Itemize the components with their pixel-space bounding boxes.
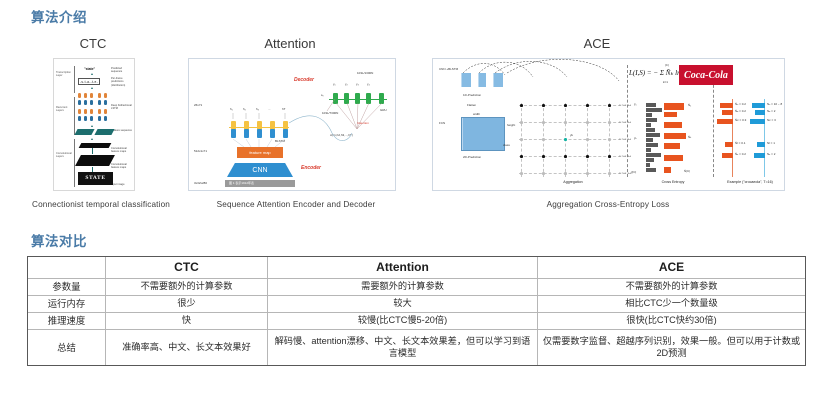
figure-caption-ace: Aggregation Cross-Entropy Loss: [508, 200, 708, 209]
ace-formula-sum-bottom: k=1: [663, 80, 668, 84]
cell-params-ace: 不需要额外的计算参数: [538, 279, 806, 296]
ace-example-right-1: Nₐ = 2: [767, 109, 775, 113]
cell-params-ctc: 不需要额外的计算参数: [106, 279, 268, 296]
ace-nbar-1: N̄₁: [688, 103, 691, 107]
ace-coca-cola-logo: Coca-Cola: [679, 65, 733, 85]
att-y-label-4: y₄: [367, 82, 370, 86]
att-h-label-2: h₂: [243, 107, 246, 111]
att-attention-label: Attention: [357, 121, 369, 125]
table-row: 运行内存 很少 较大 相比CTC少一个数量级: [28, 296, 806, 313]
ace-nbar-k: N̄ₖ: [688, 135, 691, 139]
ace-example-left-2: N̄c = 0.3: [735, 118, 746, 122]
ace-example-right-0: Nₒ = 10 − 8: [767, 102, 782, 106]
ace-example-left-0: N̄ₒ = 0.2: [735, 102, 746, 106]
ctc-label-per-frame: Per-frame predictions (distribution): [111, 77, 133, 87]
ace-label-1d-prediction: 1D-Prediction: [463, 93, 481, 97]
ace-divider-1: [627, 65, 628, 177]
row-label-summary: 总结: [28, 330, 106, 366]
ace-label-2d-prediction: 2D-Prediction: [463, 155, 481, 159]
cell-speed-attention: 较慢(比CTC慢5-20倍): [268, 313, 538, 330]
ace-label-yk-cell: yk: [570, 133, 573, 137]
ace-nbar-last: N̄|C|: [684, 169, 690, 173]
ace-1d-stack-1: [461, 73, 471, 87]
att-input-image-text: 图 1 表示1912年表: [229, 181, 254, 185]
ctc-label-recurrent: Recurrent Layers: [56, 106, 73, 112]
ctc-label-transcription: Transcription Layer: [56, 71, 73, 77]
ctc-conv-map-2: [75, 155, 115, 166]
ace-label-width: width: [473, 112, 480, 116]
table-header-attention: Attention: [268, 257, 538, 279]
ctc-feature-slab-1: [74, 129, 94, 135]
cell-params-attention: 需要额外的计算参数: [268, 279, 538, 296]
figure-title-ctc: CTC: [33, 36, 153, 51]
figure-title-ace: ACE: [537, 36, 657, 51]
ctc-input-image: STATE: [78, 172, 113, 185]
att-dim-top: 26x71: [194, 103, 202, 107]
att-cnn-block: CNN: [227, 163, 293, 177]
figure-panel-attention: 26x71 512x1x71 3x32x280 图 1 表示1912年表 CNN…: [188, 58, 396, 191]
slide-root: 算法介绍 CTC Attention ACE Transcription Lay…: [0, 0, 832, 404]
ctc-feature-slab-2: [94, 129, 114, 135]
ace-label-class: class: [503, 143, 510, 147]
ace-example-left-3: N̄l = 0.1: [735, 141, 745, 145]
cell-summary-ctc: 准确率高、中文、长文本效果好: [106, 330, 268, 366]
ace-label-height: height: [507, 123, 515, 127]
section-heading-compare: 算法对比: [31, 230, 87, 250]
ctc-arrow-1: [91, 73, 93, 75]
ace-ybar-1: ȳ₁: [634, 102, 637, 106]
att-h-label-3: h₃: [256, 107, 259, 111]
ctc-label-convolutional: Convolutional Layers: [56, 152, 73, 158]
row-label-params: 参数量: [28, 279, 106, 296]
att-connections-svg: [189, 59, 396, 191]
att-decoder-label: Decoder: [294, 77, 314, 83]
att-s0-label: s₀: [321, 93, 324, 97]
figure-panel-ace: CNN +BLSTM FCN 1D-Prediction Flatten 2D-…: [432, 58, 785, 191]
table-head: CTC Attention ACE: [28, 257, 806, 279]
figure-caption-ctc: Connectionist temporal classification: [8, 200, 194, 209]
ace-example-left-4: N̄ₑ = 0.2: [735, 152, 746, 156]
att-h-label-T: hT: [282, 107, 286, 111]
att-gru-dim-side: 103L/7300N: [322, 111, 338, 115]
table-row: 参数量 不需要额外的计算参数 需要额外的计算参数 不需要额外的计算参数: [28, 279, 806, 296]
ctc-arrow-4: [91, 138, 93, 140]
att-dim-mid: 512x1x71: [194, 149, 207, 153]
att-h-label-dots: ...: [268, 107, 271, 111]
row-label-speed: 推理速度: [28, 313, 106, 330]
ace-1d-stack-2: [478, 73, 486, 87]
ctc-conv-map-1: [79, 143, 112, 148]
ctc-label-deep-lstm: Deep bidirectional LSTM: [111, 104, 133, 111]
cell-memory-attention: 较大: [268, 296, 538, 313]
cell-summary-attention: 解码慢、attention漂移、中文、长文本效果差，但可以学习到语言模型: [268, 330, 538, 366]
att-encoder-label: Encoder: [301, 165, 321, 171]
cell-summary-ace: 仅需要数字监督、超越序列识别，效果一般。但可以用于计数或2D预测: [538, 330, 806, 366]
ace-column-label-cross-entropy: Cross Entropy: [638, 180, 708, 184]
table-header-ctc: CTC: [106, 257, 268, 279]
table-header-row: CTC Attention ACE: [28, 257, 806, 279]
att-y-label-1: y₁: [333, 82, 336, 86]
table-header-corner: [28, 257, 106, 279]
att-y-label-3: y₃: [356, 82, 359, 86]
ctc-predicted-word: "state": [84, 67, 95, 71]
row-label-memory: 运行内存: [28, 296, 106, 313]
ace-example-right-3: Nl = 1: [767, 141, 775, 145]
att-dim-bottom: 3x32x280: [194, 181, 207, 185]
ctc-blank-sequence: -s-t-a--t-e-: [78, 78, 100, 85]
table-row: 总结 准确率高、中文、长文本效果好 解码慢、attention漂移、中文、长文本…: [28, 330, 806, 366]
ctc-brace-transcription: [74, 66, 75, 93]
ctc-dotline-1: [92, 148, 93, 154]
cell-memory-ace: 相比CTC少一个数量级: [538, 296, 806, 313]
att-feature-map-block: feature map: [237, 147, 283, 158]
ace-ybar-k: ȳₖ: [634, 136, 637, 140]
figure-caption-attention: Sequence Attention Encoder and Decoder: [196, 200, 396, 209]
ace-ybar-last: ȳ|C|: [631, 170, 636, 174]
ace-example-right-4: Nₑ = 2: [767, 152, 775, 156]
att-blstm-label: BLSTM: [275, 139, 285, 143]
ace-column-label-example: Example ("crocaeola", T=16): [716, 180, 784, 184]
ace-label-fcn: FCN: [439, 121, 445, 125]
cell-memory-ctc: 很少: [106, 296, 268, 313]
att-h-label-1: h₁: [230, 107, 233, 111]
figure-title-attention: Attention: [230, 36, 350, 51]
cell-speed-ctc: 快: [106, 313, 268, 330]
ace-1d-stack-3: [493, 73, 503, 87]
algorithm-comparison-table: CTC Attention ACE 参数量 不需要额外的计算参数 需要额外的计算…: [27, 256, 806, 366]
table-row: 推理速度 快 较慢(比CTC慢5-20倍) 很快(比CTC快约30倍): [28, 313, 806, 330]
ctc-brace-convolutional: [74, 139, 75, 187]
att-context-label: c(h1,h2,h3,...,hT): [330, 133, 353, 137]
ctc-label-predicted-sequence: Predicted sequence: [111, 67, 133, 74]
ace-example-left-1: N̄ₐ = 0.2: [735, 109, 746, 113]
ace-column-label-aggregation: Aggregation: [528, 180, 618, 184]
ctc-brace-recurrent: [74, 97, 75, 135]
ctc-arrow-2: [91, 87, 93, 89]
section-heading-intro: 算法介绍: [31, 6, 87, 26]
att-gru-label: GRU: [380, 108, 387, 112]
att-y-label-2: y₂: [345, 82, 348, 86]
att-gru-dim-top: 103L/1300N: [357, 71, 373, 75]
figure-panel-ctc: Transcription Layer Recurrent Layers Con…: [53, 58, 135, 191]
ace-label-flatten: Flatten: [467, 103, 476, 107]
ace-2d-cube: [461, 117, 505, 151]
cell-speed-ace: 很快(比CTC快约30倍): [538, 313, 806, 330]
ace-formula-sum-top: |C|: [665, 63, 669, 67]
ctc-label-conv-maps-1: Convolutional feature maps: [111, 147, 133, 154]
ctc-label-input-image: Input image: [111, 183, 133, 186]
table-header-ace: ACE: [538, 257, 806, 279]
ace-label-cnn-blstm: CNN +BLSTM: [439, 67, 459, 71]
ctc-arrow-3: [91, 125, 93, 127]
ctc-label-conv-maps-2: Convolutional feature maps: [111, 163, 133, 170]
table-body: 参数量 不需要额外的计算参数 需要额外的计算参数 不需要额外的计算参数 运行内存…: [28, 279, 806, 366]
ace-example-right-2: Nc = 3: [767, 118, 776, 122]
